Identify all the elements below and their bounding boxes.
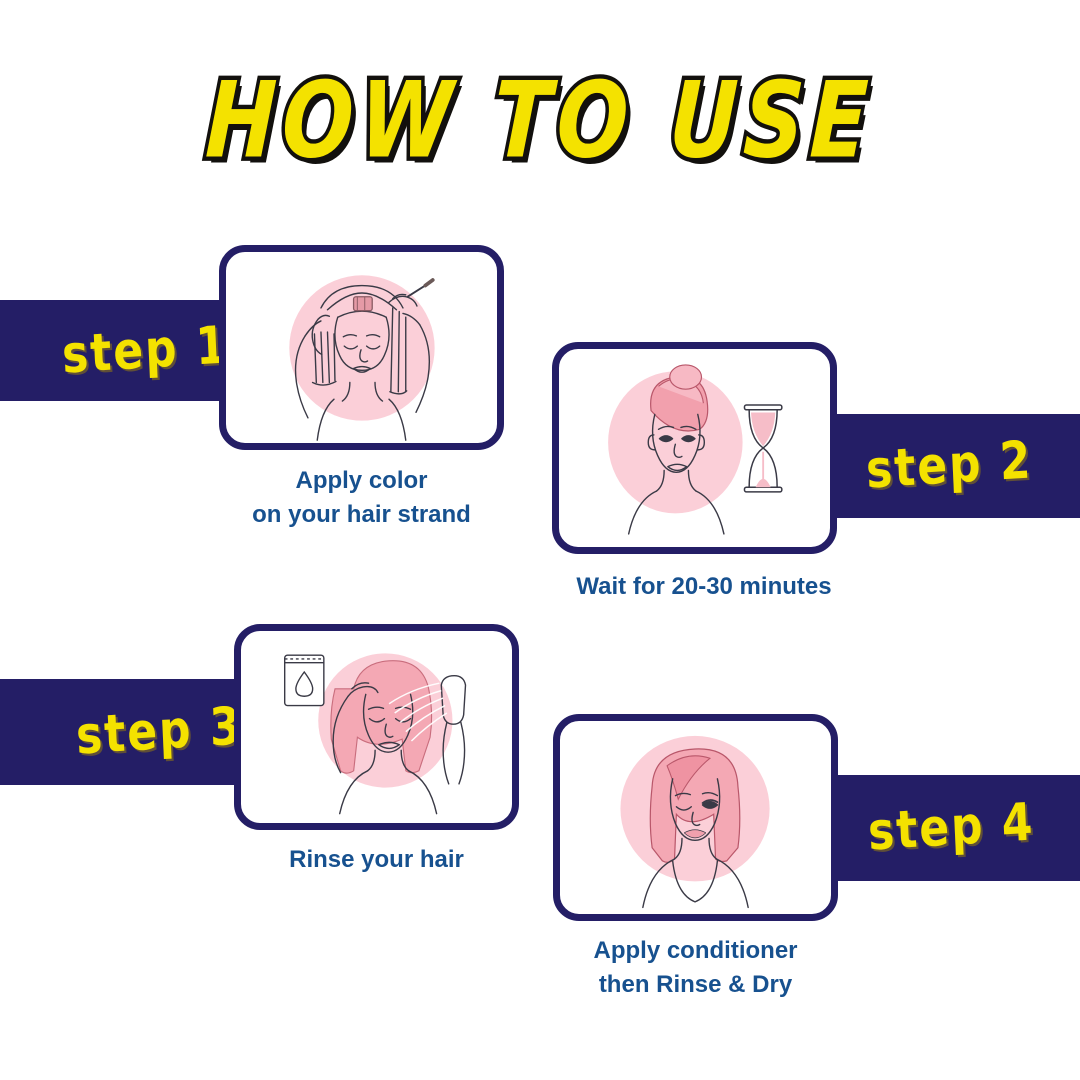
illustration-apply-color bbox=[226, 252, 497, 443]
illustration-apply-conditioner bbox=[560, 721, 831, 914]
step-caption-1: Apply color on your hair strand bbox=[219, 464, 504, 532]
step-badge-label-4: step 4 bbox=[867, 797, 1036, 859]
step-caption-4: Apply conditioner then Rinse & Dry bbox=[553, 934, 838, 1002]
step-card-4[interactable] bbox=[553, 714, 838, 921]
step-card-1[interactable] bbox=[219, 245, 504, 450]
step-badge-label-3: step 3 bbox=[74, 701, 243, 763]
step-caption-2: Wait for 20-30 minutes bbox=[528, 570, 880, 604]
step-banner-2: step 2 bbox=[830, 414, 1080, 518]
illustration-rinse-hair bbox=[241, 631, 512, 823]
step-card-3[interactable] bbox=[234, 624, 519, 830]
infographic-stage: HOW TO USE step 1 bbox=[0, 0, 1080, 1080]
step-caption-3: Rinse your hair bbox=[234, 843, 519, 877]
step-badge-label-1: step 1 bbox=[60, 319, 229, 381]
page-title: HOW TO USE bbox=[0, 78, 1080, 162]
illustration-wait-hourglass bbox=[559, 349, 830, 547]
page-title-text: HOW TO USE bbox=[204, 68, 876, 173]
step-badge-label-2: step 2 bbox=[865, 435, 1034, 497]
step-banner-4: step 4 bbox=[830, 775, 1080, 881]
step-card-2[interactable] bbox=[552, 342, 837, 554]
